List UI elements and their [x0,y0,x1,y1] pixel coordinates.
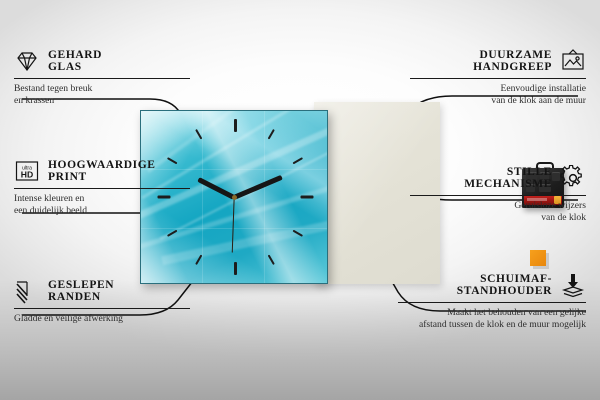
feature-title: GESLEPENRANDEN [48,279,114,304]
minute-hand [233,174,283,199]
ultra-hd-icon: ultra HD [14,158,40,184]
feature-title: STILLEMECHANISME [464,166,552,191]
divider [398,302,586,303]
feature-desc: Intense kleuren eneen duidelijk beeld [14,193,190,216]
feature-stille-mechanisme: STILLEMECHANISME Geruisloze wijzersvan d… [410,165,586,223]
down-arrow-stack-icon [560,272,586,298]
feature-title: GEHARDGLAS [48,49,102,74]
feature-title: HOOGWAARDIGEPRINT [48,159,156,184]
feature-desc: Geruisloze wijzersvan de klok [410,200,586,223]
feature-duurzame-handgreep: DUURZAMEHANDGREEP Eenvoudige installatie… [410,48,586,106]
feature-desc: Eenvoudige installatievan de klok aan de… [410,83,586,106]
divider [14,308,190,309]
feature-schuimafstandhouder: SCHUIMAF-STANDHOUDER Maakt het behouden … [398,272,586,330]
foam-spacer [530,250,546,266]
gear-icon [560,165,586,191]
feature-gehard-glas: GEHARDGLAS Bestand tegen breuken krassen [14,48,190,106]
diagonal-lines-icon [14,278,40,304]
diamond-icon [14,48,40,74]
svg-text:HD: HD [21,170,33,180]
product-infographic: GEHARDGLAS Bestand tegen breuken krassen… [0,0,600,400]
divider [410,78,586,79]
feature-geslepen-randen: GESLEPENRANDEN Gladde en veilige afwerki… [14,278,190,325]
feature-desc: Gladde en veilige afwerking [14,313,190,325]
feature-hoogwaardige-print: ultra HD HOOGWAARDIGEPRINT Intense kleur… [14,158,190,216]
picture-hanger-icon [560,48,586,74]
divider [14,78,190,79]
feature-desc: Bestand tegen breuken krassen [14,83,190,106]
divider [410,195,586,196]
feature-title: DUURZAMEHANDGREEP [473,49,552,74]
hand-pin [232,195,237,200]
divider [14,188,190,189]
feature-title: SCHUIMAF-STANDHOUDER [457,273,552,298]
feature-desc: Maakt het behouden van een gelijkeafstan… [398,307,586,330]
